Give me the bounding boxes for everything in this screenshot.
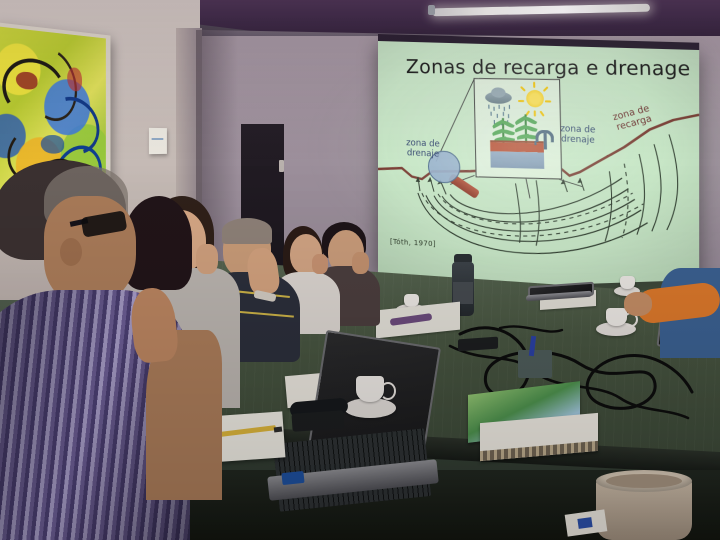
laptop-sticker <box>281 471 304 485</box>
faucet-stem <box>544 133 547 149</box>
painting-plaque-text <box>152 138 164 140</box>
label-zona-de-drenaje-right: zona de drenaje <box>557 124 599 146</box>
projected-slide: Zonas de recarga e drenage zona de drena… <box>378 41 699 293</box>
packet-logo <box>577 517 592 529</box>
hair <box>222 218 272 244</box>
coffee-cup <box>620 276 635 289</box>
smartphone[interactable] <box>291 410 344 432</box>
label-line-2: drenaje <box>561 134 595 146</box>
projection-screen: Zonas de recarga e drenage zona de drena… <box>378 41 699 293</box>
light-end-cap <box>428 5 435 15</box>
cup-handle <box>380 382 396 400</box>
door-handle <box>279 160 284 172</box>
hand <box>624 292 652 316</box>
hand <box>352 252 369 274</box>
conference-room-scene: Zonas de recarga e drenage zona de drena… <box>0 0 720 540</box>
pencil-tip <box>274 427 283 433</box>
painting-plaque <box>149 128 167 154</box>
mug-interior <box>606 474 682 488</box>
slide-title: Zonas de recarga e drenage <box>406 56 674 80</box>
hand <box>312 254 328 274</box>
rain-cloud-top <box>491 87 506 97</box>
pen-holder[interactable] <box>518 350 552 378</box>
hand <box>196 244 218 274</box>
sun-icon <box>526 90 544 108</box>
water-cycle-inset <box>474 78 563 180</box>
water-table-layer <box>490 151 544 169</box>
ear <box>60 238 82 266</box>
label-line-2: drenaje <box>407 148 439 159</box>
faucet-drip <box>534 141 536 145</box>
bottle-label <box>453 282 473 304</box>
label-zona-de-drenaje-left: zona de drenaje <box>400 138 446 160</box>
